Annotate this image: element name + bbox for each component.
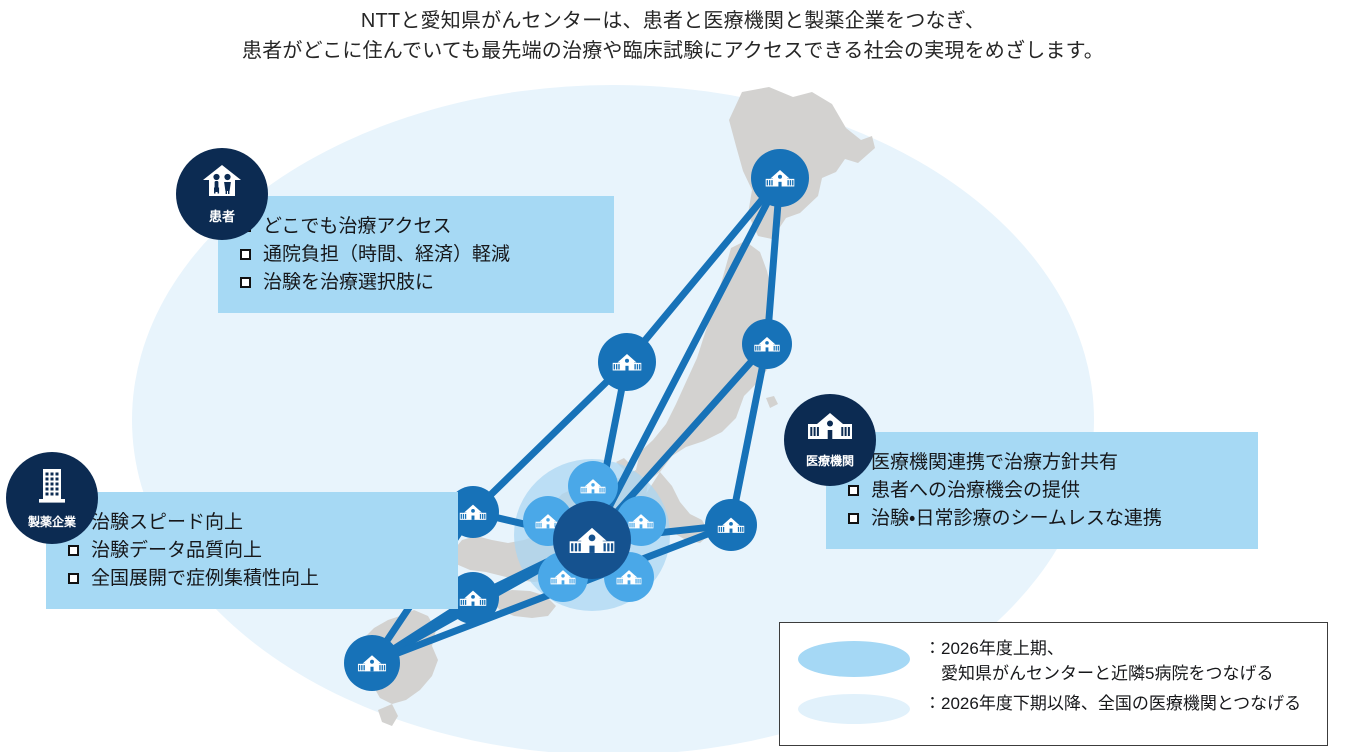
panel-pharma-benefits: 治験スピード向上 治験データ品質向上 全国展開で症例集積性向上 — [46, 492, 458, 609]
badge-medical-label: 医療機関 — [806, 452, 854, 469]
list-item: どこでも治療アクセス — [240, 217, 596, 236]
legend-text: ：2026年度下期以降、全国の医療機関とつなげる — [924, 692, 1301, 717]
list-item: 治験データ品質向上 — [68, 541, 440, 560]
list-item: 治験・日常診療のシームレスな連携 — [848, 509, 1240, 528]
benefit-text: 治験スピード向上 — [91, 513, 243, 532]
benefit-text: 治験を治療選択肢に — [263, 273, 434, 292]
panel-medical-benefits: 医療機関連携で治療方針共有 患者への治療機会の提供 治験・日常診療のシームレスな… — [826, 432, 1258, 549]
badge-pharma-label: 製薬企業 — [28, 513, 76, 530]
node-kyushu[interactable] — [344, 635, 400, 691]
hospital-icon — [806, 411, 854, 450]
list-item: 治験スピード向上 — [68, 513, 440, 532]
panel-patient-benefits: どこでも治療アクセス 通院負担（時間、経済）軽減 治験を治療選択肢に — [218, 196, 614, 313]
legend-row: ：2026年度上期、 愛知県がんセンターと近隣5病院をつなげる — [780, 623, 1327, 686]
legend-swatch-nationwide-icon — [798, 694, 910, 724]
benefit-text: どこでも治療アクセス — [263, 217, 451, 236]
benefit-text: 治験・日常診療のシームレスな連携 — [871, 509, 1162, 528]
legend: ：2026年度上期、 愛知県がんセンターと近隣5病院をつなげる ：2026年度下… — [779, 622, 1328, 746]
benefit-text: 全国展開で症例集積性向上 — [91, 569, 319, 588]
benefit-text: 治験データ品質向上 — [91, 541, 262, 560]
list-item: 通院負担（時間、経済）軽減 — [240, 245, 596, 264]
list-item: 治験を治療選択肢に — [240, 273, 596, 292]
node-hokuriku[interactable] — [598, 333, 656, 391]
checkbox-bullet-icon — [240, 249, 251, 260]
legend-text: ：2026年度上期、 愛知県がんセンターと近隣5病院をつなげる — [924, 637, 1273, 686]
node-hokkaido[interactable] — [751, 149, 809, 207]
node-tohoku[interactable] — [742, 319, 792, 369]
badge-patient: 患者 — [176, 148, 268, 240]
house-family-icon — [200, 163, 244, 204]
badge-pharma: 製薬企業 — [6, 452, 98, 544]
legend-swatch-nearby-icon — [798, 641, 910, 677]
node-hub-aichi-cancer-center[interactable] — [553, 501, 631, 579]
benefit-text: 医療機関連携で治療方針共有 — [871, 453, 1118, 472]
badge-patient-label: 患者 — [209, 206, 235, 225]
badge-medical: 医療機関 — [784, 394, 876, 486]
node-kanto[interactable] — [705, 499, 757, 551]
list-item: 患者への治療機会の提供 — [848, 481, 1240, 500]
benefit-text: 患者への治療機会の提供 — [871, 481, 1080, 500]
checkbox-bullet-icon — [240, 277, 251, 288]
checkbox-bullet-icon — [848, 485, 859, 496]
list-item: 医療機関連携で治療方針共有 — [848, 453, 1240, 472]
benefit-text: 通院負担（時間、経済）軽減 — [263, 245, 510, 264]
checkbox-bullet-icon — [68, 545, 79, 556]
office-building-icon — [34, 466, 70, 511]
list-item: 全国展開で症例集積性向上 — [68, 569, 440, 588]
checkbox-bullet-icon — [848, 513, 859, 524]
infographic-canvas: NTTと愛知県がんセンターは、患者と医療機関と製薬企業をつなぎ、 患者がどこに住… — [0, 0, 1346, 752]
legend-row: ：2026年度下期以降、全国の医療機関とつなげる — [780, 686, 1327, 724]
checkbox-bullet-icon — [68, 573, 79, 584]
